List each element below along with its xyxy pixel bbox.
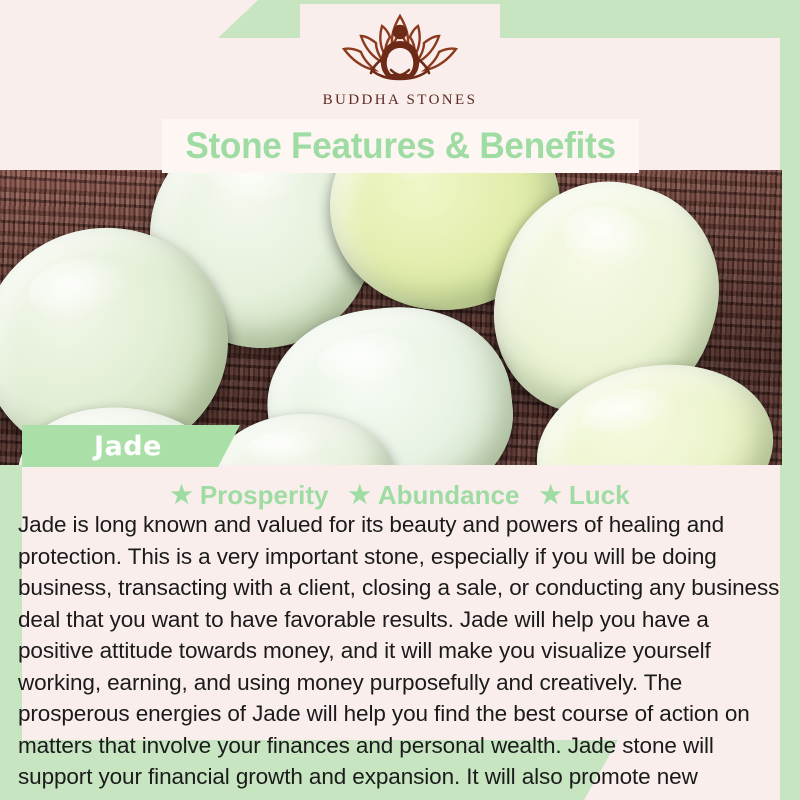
title-banner: Stone Features & Benefits: [162, 119, 639, 173]
brand-header: BUDDHA STONES: [0, 0, 800, 122]
keyword-item-abundance: ★ Abundance: [348, 480, 519, 511]
star-icon: ★: [348, 483, 370, 508]
keyword-item-luck: ★ Luck: [539, 480, 629, 511]
keyword-label: Prosperity: [200, 480, 329, 511]
stone-name-label: Jade: [22, 425, 240, 467]
keyword-label: Abundance: [378, 480, 520, 511]
stone-name-text: Jade: [94, 431, 162, 462]
stone-info-card: BUDDHA STONES Stone Features & Benefits …: [0, 0, 800, 800]
brand-logo: BUDDHA STONES: [300, 4, 500, 118]
star-icon: ★: [170, 483, 192, 508]
keyword-item-prosperity: ★ Prosperity: [170, 480, 328, 511]
stone-photo: [0, 170, 782, 465]
star-icon: ★: [539, 483, 561, 508]
lotus-meditation-icon: [325, 10, 475, 90]
brand-name: BUDDHA STONES: [323, 92, 478, 109]
keyword-label: Luck: [569, 480, 630, 511]
stone-description: Jade is long known and valued for its be…: [18, 509, 782, 800]
keyword-list: ★ Prosperity ★ Abundance ★ Luck: [0, 478, 800, 512]
page-title: Stone Features & Benefits: [185, 125, 615, 167]
